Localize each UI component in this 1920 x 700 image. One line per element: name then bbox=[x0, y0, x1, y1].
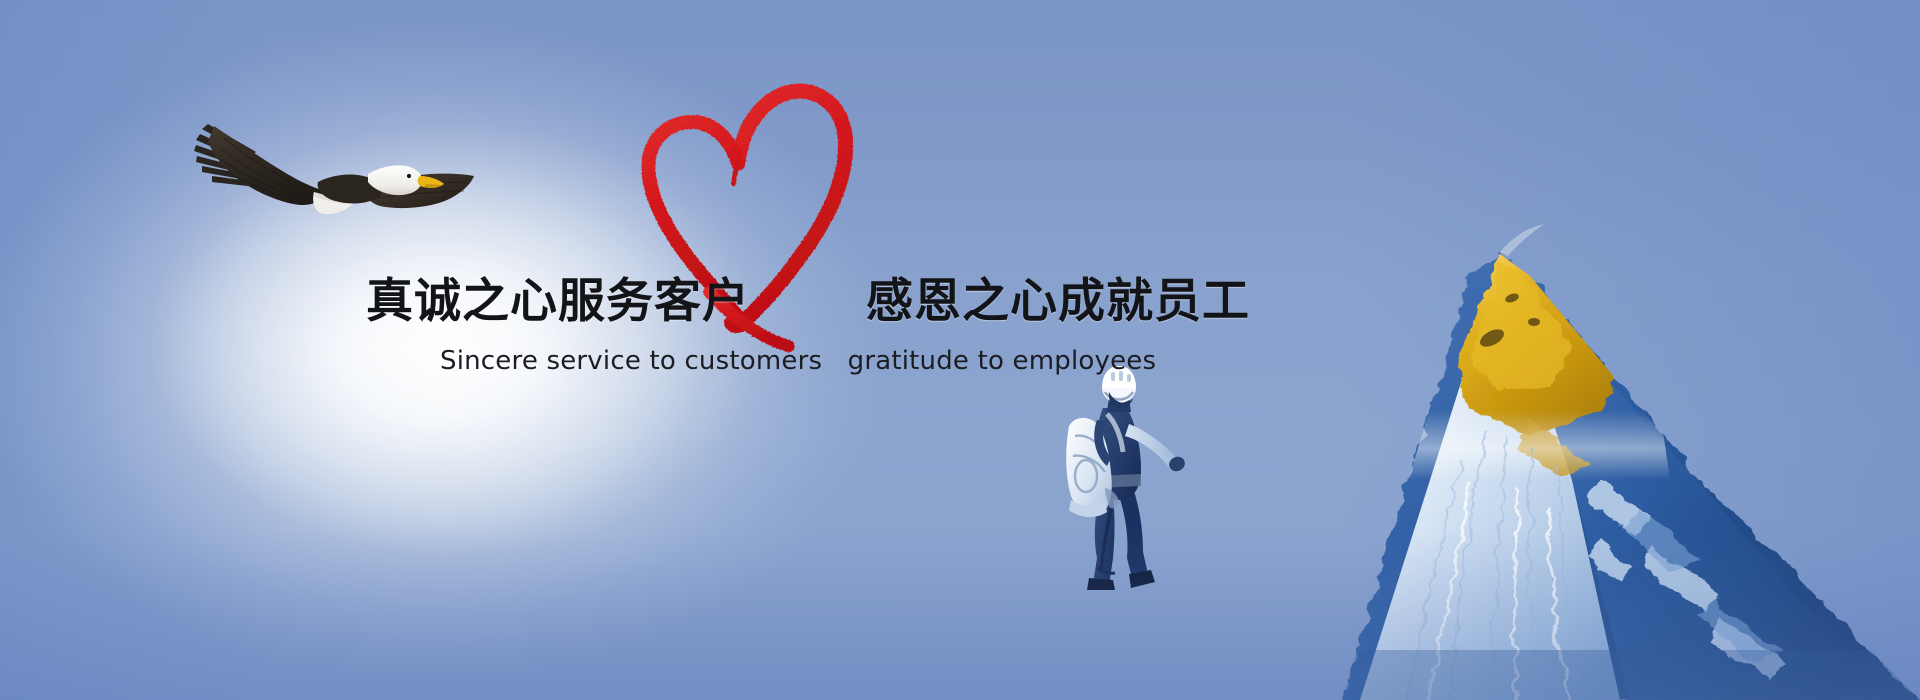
flying-eagle-icon bbox=[186, 96, 476, 216]
hero-banner: 真诚之心服务客户 感恩之心成就员工 Sincere service to cus… bbox=[0, 0, 1920, 700]
mountain-peak-icon bbox=[1200, 180, 1920, 700]
brush-heart-icon bbox=[612, 62, 882, 352]
mountain-climber-icon bbox=[1053, 330, 1185, 590]
